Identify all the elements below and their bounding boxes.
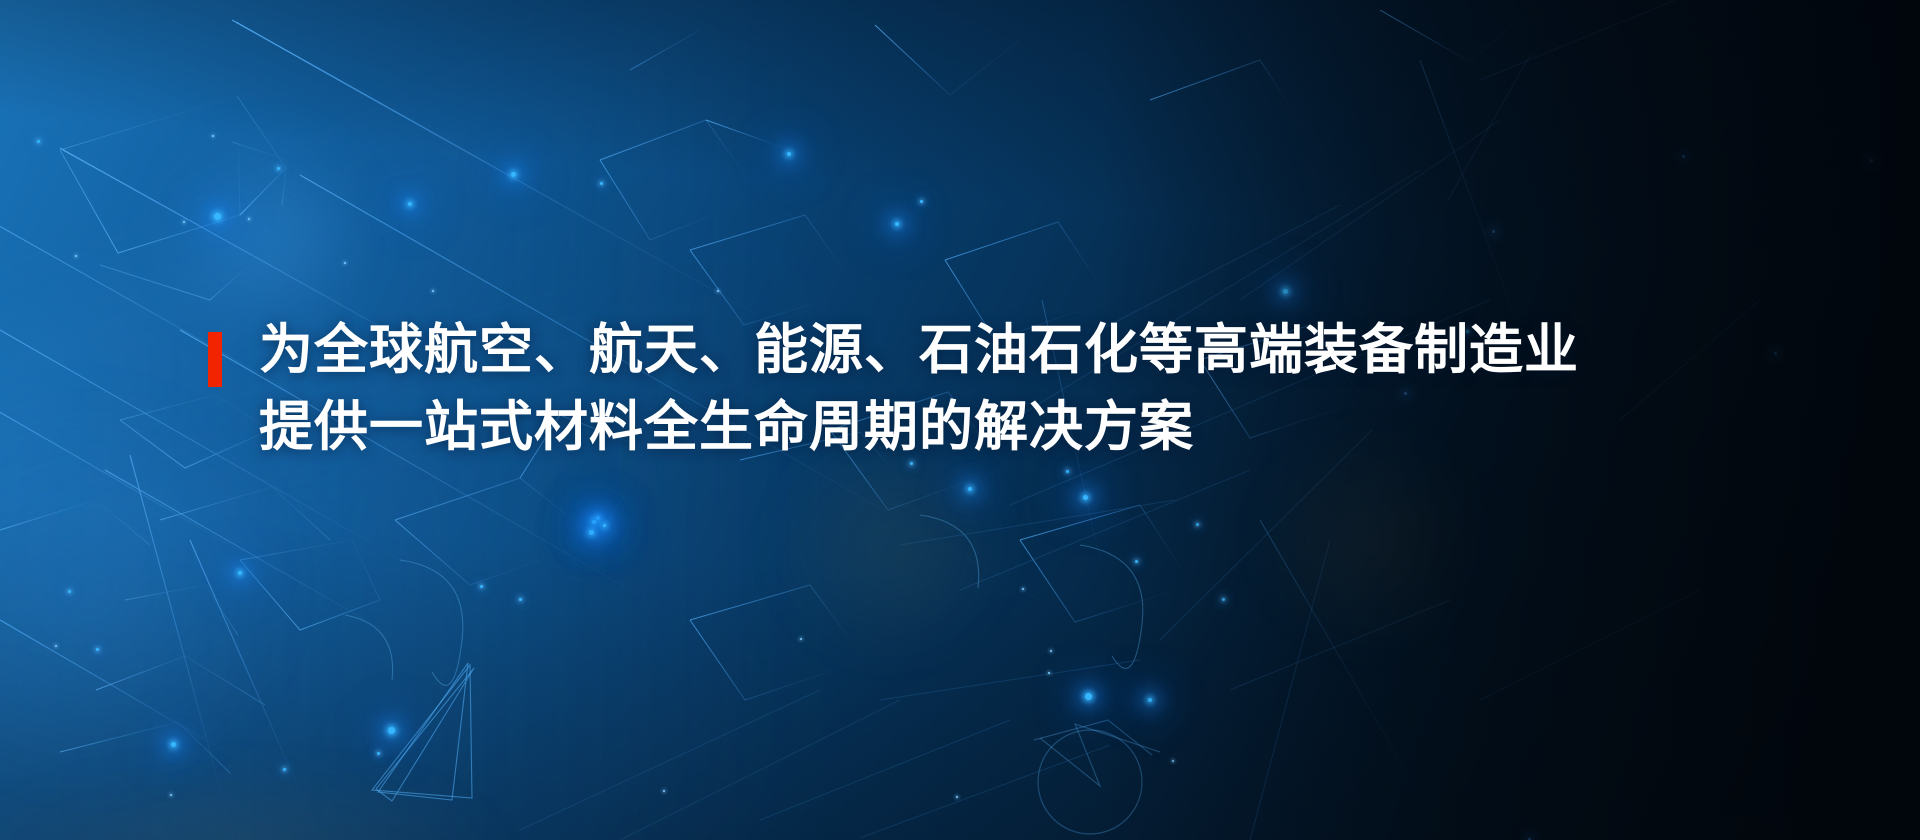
glow-dot-tiny [432, 290, 434, 292]
glow-dot [480, 585, 483, 588]
glow-dot [214, 213, 221, 220]
headline-line-2: 提供一站式材料全生命周期的解决方案 [259, 389, 1579, 466]
glow-dot-tiny [1022, 588, 1024, 590]
headline-text: 为全球航空、航天、能源、石油石化等高端装备制造业 提供一站式材料全生命周期的解决… [259, 312, 1579, 466]
red-accent-bar [208, 332, 222, 387]
glow-dot-tiny [344, 262, 346, 264]
glow-dot-tiny [75, 255, 77, 257]
glow-dot [283, 768, 286, 771]
glow-dot [511, 172, 516, 177]
glow-dot [589, 530, 594, 535]
glow-dot [377, 752, 380, 755]
glow-dot [37, 140, 40, 143]
headline-block: 为全球航空、航天、能源、石油石化等高端装备制造业 提供一站式材料全生命周期的解决… [208, 312, 1579, 466]
glow-dot [603, 524, 606, 527]
glow-dot-tiny [800, 638, 802, 640]
glow-dot [171, 742, 176, 747]
glow-dot [1085, 693, 1092, 700]
glow-dot [787, 152, 791, 156]
glow-dot [968, 487, 972, 491]
glow-dot-tiny [1048, 672, 1050, 674]
glow-dot [388, 727, 395, 734]
glow-dot-tiny [55, 645, 57, 647]
glow-dot [238, 571, 242, 575]
glow-dot-tiny [212, 135, 214, 137]
glow-dot [519, 598, 522, 601]
glow-dot-tiny [956, 796, 958, 798]
glow-dot [277, 167, 280, 170]
glow-dot [1066, 470, 1069, 473]
glow-dot-tiny [183, 221, 185, 223]
glow-dot-tiny [248, 218, 250, 220]
glow-dot [96, 648, 99, 651]
glow-dot [408, 202, 412, 206]
glow-dot-tiny [663, 790, 665, 792]
glow-dot [600, 182, 603, 185]
glow-dot [895, 222, 899, 226]
glow-dot [68, 590, 71, 593]
glow-dot-tiny [717, 290, 719, 292]
glow-dot [592, 520, 596, 524]
glow-dot-tiny [1050, 650, 1052, 652]
glow-dot-tiny [170, 794, 172, 796]
glow-dot [920, 200, 923, 203]
hero-banner: 为全球航空、航天、能源、石油石化等高端装备制造业 提供一站式材料全生命周期的解决… [0, 0, 1920, 840]
glow-dot [1083, 495, 1088, 500]
glow-dot [596, 516, 600, 520]
headline-line-1: 为全球航空、航天、能源、石油石化等高端装备制造业 [259, 312, 1579, 389]
